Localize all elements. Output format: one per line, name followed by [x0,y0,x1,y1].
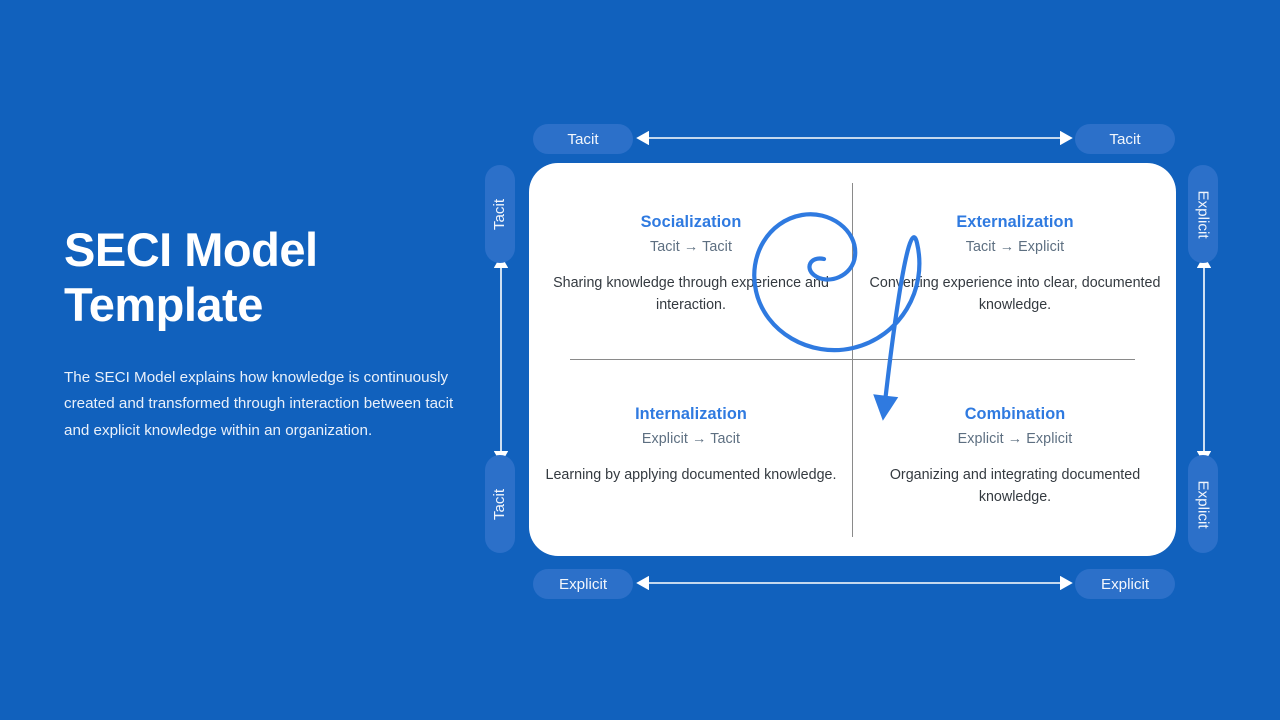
seci-diagram: Socialization Tacit → Tacit Sharing know… [480,110,1220,610]
axis-pill-right-bottom[interactable]: Explicit [1188,455,1218,553]
axis-pill-label: Explicit [559,576,607,593]
quadrant-subtitle: Tacit → Explicit [865,239,1165,255]
axis-pill-label: Explicit [1101,576,1149,593]
quadrant-combination[interactable]: Combination Explicit → Explicit Organizi… [865,405,1165,508]
quadrant-title: Combination [865,405,1165,424]
axis-pill-label: Explicit [1195,480,1212,528]
quadrant-title: Socialization [541,213,841,232]
quadrant-title: Internalization [541,405,841,424]
quadrant-subtitle: Tacit → Tacit [541,239,841,255]
axis-pill-left-bottom[interactable]: Tacit [485,455,515,553]
quadrant-title: Externalization [865,213,1165,232]
quadrant-body: Organizing and integrating documented kn… [865,464,1165,508]
quadrant-internalization[interactable]: Internalization Explicit → Tacit Learnin… [541,405,841,486]
quadrant-body: Learning by applying documented knowledg… [541,464,841,486]
quadrant-externalization[interactable]: Externalization Tacit → Explicit Convert… [865,213,1165,316]
page-title: SECI Model Template [64,222,454,333]
quadrant-subtitle: Explicit → Tacit [541,431,841,447]
axis-pill-label: Tacit [492,198,509,229]
axis-pill-bottom-left[interactable]: Explicit [533,569,633,599]
quadrant-card: Socialization Tacit → Tacit Sharing know… [529,163,1176,556]
page-description: The SECI Model explains how knowledge is… [64,365,454,445]
axis-pill-left-top[interactable]: Tacit [485,165,515,263]
quadrant-subtitle: Explicit → Explicit [865,431,1165,447]
axis-pill-label: Explicit [1195,190,1212,238]
divider-vertical [852,183,853,537]
quadrant-socialization[interactable]: Socialization Tacit → Tacit Sharing know… [541,213,841,316]
intro-panel: SECI Model Template The SECI Model expla… [64,222,454,444]
quadrant-body: Sharing knowledge through experience and… [541,272,841,316]
axis-pill-right-top[interactable]: Explicit [1188,165,1218,263]
quadrant-body: Converting experience into clear, docume… [865,272,1165,316]
axis-pill-top-right[interactable]: Tacit [1075,124,1175,154]
axis-pill-bottom-right[interactable]: Explicit [1075,569,1175,599]
axis-pill-label: Tacit [1109,131,1140,148]
axis-pill-top-left[interactable]: Tacit [533,124,633,154]
axis-pill-label: Tacit [492,488,509,519]
axis-pill-label: Tacit [567,131,598,148]
